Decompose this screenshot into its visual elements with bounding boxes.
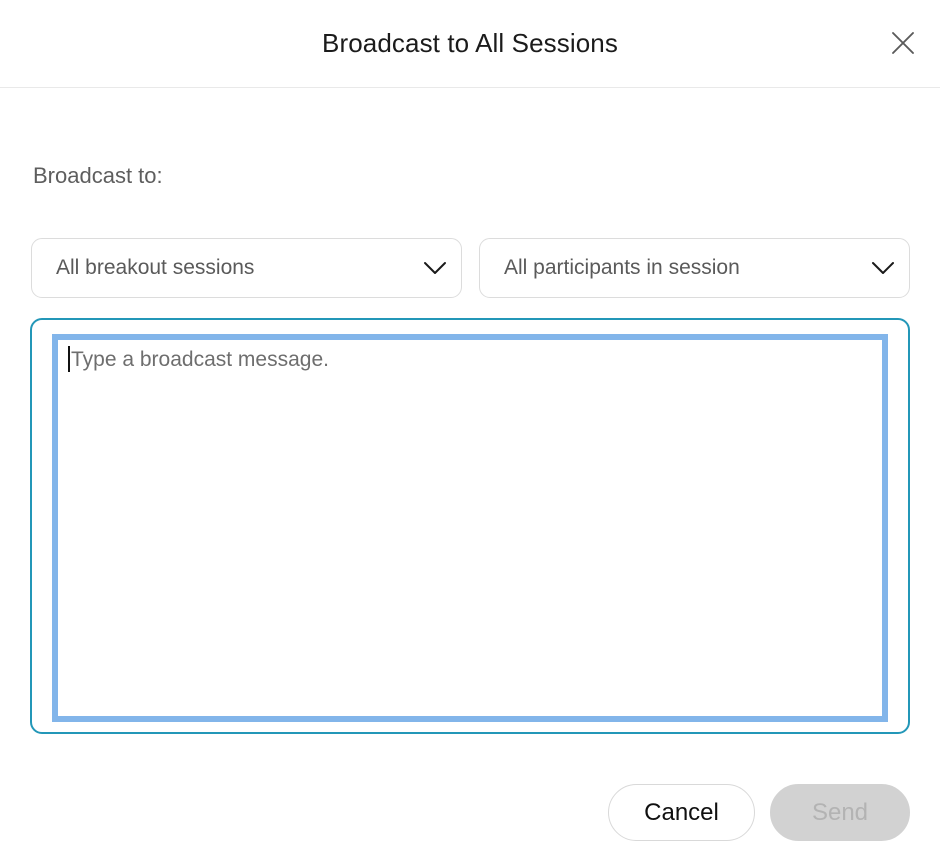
close-icon	[890, 30, 916, 56]
broadcast-dialog: Broadcast to All Sessions Broadcast to: …	[0, 0, 940, 858]
chevron-down-icon	[857, 261, 909, 276]
audience-scope-select[interactable]: All participants in session	[479, 238, 910, 298]
audience-scope-value: All participants in session	[480, 255, 857, 281]
broadcast-message-focus-ring: Type a broadcast message.	[52, 334, 888, 722]
broadcast-to-label: Broadcast to:	[33, 161, 163, 191]
dialog-header: Broadcast to All Sessions	[0, 0, 940, 88]
chevron-down-icon	[409, 261, 461, 276]
session-scope-value: All breakout sessions	[32, 255, 409, 281]
broadcast-target-row: All breakout sessions All participants i…	[31, 238, 910, 298]
dialog-footer: Cancel Send	[0, 784, 940, 844]
broadcast-message-input[interactable]: Type a broadcast message.	[58, 340, 882, 716]
cancel-button[interactable]: Cancel	[608, 784, 755, 841]
text-caret	[68, 346, 70, 372]
session-scope-select[interactable]: All breakout sessions	[31, 238, 462, 298]
close-button[interactable]	[880, 20, 926, 66]
page-title: Broadcast to All Sessions	[0, 26, 940, 60]
broadcast-message-placeholder: Type a broadcast message.	[71, 348, 329, 371]
send-button[interactable]: Send	[770, 784, 910, 841]
broadcast-message-focus-outline: Type a broadcast message.	[30, 318, 910, 734]
